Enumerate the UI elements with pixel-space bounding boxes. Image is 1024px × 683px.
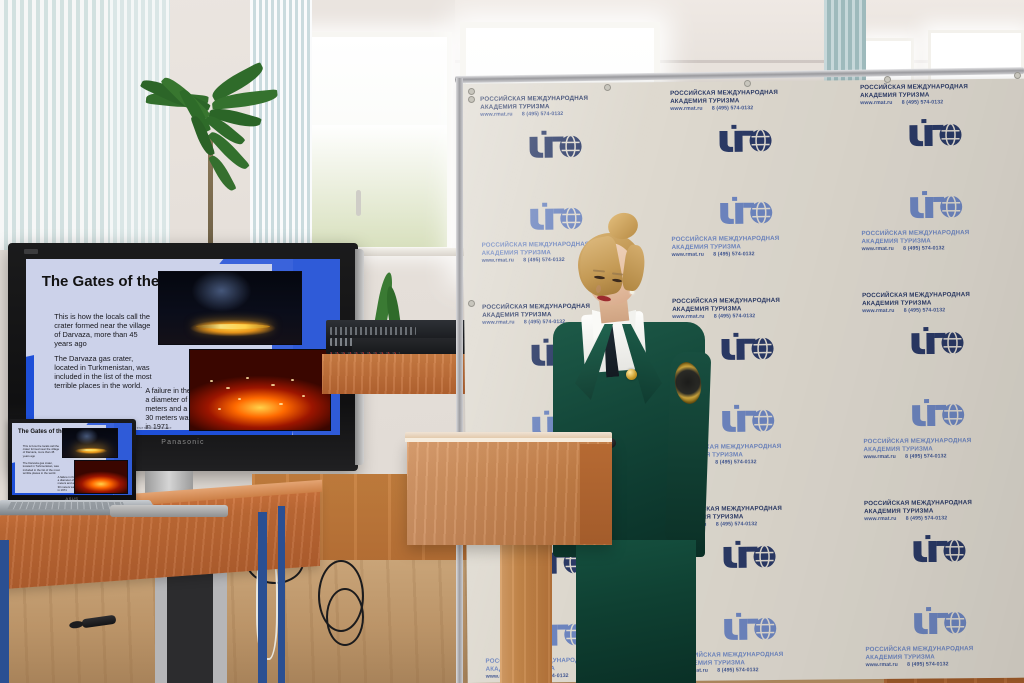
slide-photo-lava xyxy=(189,349,330,432)
banner-logo-tile: РОССИЙСКАЯ МЕЖДУНАРОДНАЯАКАДЕМИЯ ТУРИЗМА… xyxy=(852,494,1024,600)
slide-paragraph-2: The Darvaza gas crater, located in Turkm… xyxy=(54,354,154,390)
academy-logo-icon xyxy=(716,123,772,156)
banner-contact: www.rmat.ru 8 (495) 574-0132 xyxy=(866,661,974,669)
banner-logo-tile: РОССИЙСКАЯ МЕЖДУНАРОДНАЯАКАДЕМИЯ ТУРИЗМА… xyxy=(850,286,1024,392)
presentation-slide: The Gates of the Hell This is how the lo… xyxy=(26,259,340,435)
gold-lapel-pin-icon xyxy=(626,369,637,380)
lectern-column xyxy=(500,541,552,683)
power-cable-loop xyxy=(326,588,364,646)
banner-text-block: РОССИЙСКАЯ МЕЖДУНАРОДНАЯАКАДЕМИЯ ТУРИЗМА… xyxy=(670,89,778,112)
academy-logo-icon xyxy=(908,325,964,358)
academy-logo-icon xyxy=(911,605,967,638)
slide-photo-night xyxy=(158,271,302,345)
window-handle[interactable] xyxy=(356,190,361,216)
slide-paragraph-1: This is how the locals call the crater f… xyxy=(54,312,154,348)
banner-text-block: РОССИЙСКАЯ МЕЖДУНАРОДНАЯАКАДЕМИЯ ТУРИЗМА… xyxy=(672,297,780,320)
banner-grommet xyxy=(468,88,475,95)
photo-scene: The Gates of the Hell This is how the lo… xyxy=(0,0,1024,683)
banner-logo-tile: РОССИЙСКАЯ МЕЖДУНАРОДНАЯАКАДЕМИЯ ТУРИЗМА… xyxy=(848,79,1024,185)
banner-line-1: РОССИЙСКАЯ МЕЖДУНАРОДНАЯ xyxy=(860,83,968,92)
banner-line-1: РОССИЙСКАЯ МЕЖДУНАРОДНАЯ xyxy=(480,95,588,104)
laptop-screen: The Gates of the Hell This is how the lo… xyxy=(12,423,132,495)
banner-contact: www.rmat.ru 8 (495) 574-0132 xyxy=(672,312,780,320)
academy-logo-icon xyxy=(527,201,583,234)
banner-contact: www.rmat.ru 8 (495) 574-0132 xyxy=(670,104,778,112)
banner-logo-tile: РОССИЙСКАЯ МЕЖДУНАРОДНАЯАКАДЕМИЯ ТУРИЗМА… xyxy=(849,182,1024,288)
banner-line-1: РОССИЙСКАЯ МЕЖДУНАРОДНАЯ xyxy=(861,229,969,238)
tv-indicator-icon xyxy=(24,249,38,254)
slide-paragraph-2: The Darvaza gas crater, located in Turkm… xyxy=(23,462,61,476)
banner-frame-left-post xyxy=(456,78,463,683)
window-foliage xyxy=(305,125,447,247)
academy-logo-icon xyxy=(719,403,775,436)
banner-grommet xyxy=(604,84,611,91)
banner-line-1: РОССИЙСКАЯ МЕЖДУНАРОДНАЯ xyxy=(671,235,779,244)
banner-contact: www.rmat.ru 8 (495) 574-0132 xyxy=(482,256,590,264)
banner-text-block: РОССИЙСКАЯ МЕЖДУНАРОДНАЯАКАДЕМИЯ ТУРИЗМА… xyxy=(480,95,588,118)
uniform-skirt xyxy=(576,540,696,683)
banner-grommet xyxy=(468,300,475,307)
academy-logo-icon xyxy=(909,397,965,430)
banner-logo-tile: РОССИЙСКАЯ МЕЖДУНАРОДНАЯАКАДЕМИЯ ТУРИЗМА… xyxy=(851,390,1024,496)
banner-grommet xyxy=(744,80,751,87)
banner-contact: www.rmat.ru 8 (495) 574-0132 xyxy=(862,245,970,253)
banner-text-block: РОССИЙСКАЯ МЕЖДУНАРОДНАЯАКАДЕМИЯ ТУРИЗМА… xyxy=(860,83,968,106)
banner-grommet xyxy=(468,96,475,103)
banner-contact: www.rmat.ru 8 (495) 574-0132 xyxy=(862,307,970,315)
lectern-top-edge xyxy=(405,438,612,442)
table-leg xyxy=(0,540,9,683)
laptop-keyboard[interactable] xyxy=(7,502,125,509)
banner-line-1: РОССИЙСКАЯ МЕЖДУНАРОДНАЯ xyxy=(864,499,972,508)
laptop[interactable]: The Gates of the Hell This is how the lo… xyxy=(8,419,136,502)
banner-grommet xyxy=(884,76,891,83)
table-leg xyxy=(258,512,267,683)
banner-contact: www.rmat.ru 8 (495) 574-0132 xyxy=(860,99,968,107)
banner-contact: www.rmat.ru 8 (495) 574-0132 xyxy=(864,515,972,523)
banner-line-1: РОССИЙСКАЯ МЕЖДУНАРОДНАЯ xyxy=(863,437,971,446)
slide-footer: presentation source xyxy=(133,426,172,430)
lectern-side-panel xyxy=(580,444,612,544)
presentation-slide-laptop: The Gates of the Hell This is how the lo… xyxy=(12,423,132,495)
crater-glow xyxy=(77,449,105,451)
tv-screen: The Gates of the Hell This is how the lo… xyxy=(26,259,340,435)
academy-logo-icon xyxy=(526,129,582,162)
banner-contact: www.rmat.ru 8 (495) 574-0132 xyxy=(672,250,780,258)
tv-stand-column xyxy=(155,560,227,683)
banner-line-1: РОССИЙСКАЯ МЕЖДУНАРОДНАЯ xyxy=(672,297,780,306)
banner-text-block: РОССИЙСКАЯ МЕЖДУНАРОДНАЯАКАДЕМИЯ ТУРИЗМА… xyxy=(861,229,969,252)
banner-contact: www.rmat.ru 8 (495) 574-0132 xyxy=(864,453,972,461)
mixer-knob-row-1[interactable] xyxy=(330,327,416,335)
academy-logo-icon xyxy=(907,189,963,222)
academy-logo-icon xyxy=(717,195,773,228)
banner-grommet xyxy=(1014,72,1021,79)
banner-contact: www.rmat.ru 8 (495) 574-0132 xyxy=(480,110,588,118)
banner-line-1: РОССИЙСКАЯ МЕЖДУНАРОДНАЯ xyxy=(862,291,970,300)
academy-logo-icon xyxy=(721,611,777,644)
table-leg xyxy=(278,506,285,683)
crater-glow xyxy=(196,324,270,329)
banner-text-block: РОССИЙСКАЯ МЕЖДУНАРОДНАЯАКАДЕМИЯ ТУРИЗМА… xyxy=(862,291,970,314)
banner-logo-tile: РОССИЙСКАЯ МЕЖДУНАРОДНАЯАКАДЕМИЯ ТУРИЗМА… xyxy=(853,598,1024,683)
curtain-left[interactable] xyxy=(0,0,120,250)
banner-text-block: РОССИЙСКАЯ МЕЖДУНАРОДНАЯАКАДЕМИЯ ТУРИЗМА… xyxy=(864,499,972,522)
slide-paragraph-1: This is how the locals call the crater f… xyxy=(23,445,61,459)
tv-stand-base xyxy=(110,505,228,517)
banner-text-block: РОССИЙСКАЯ МЕЖДУНАРОДНАЯАКАДЕМИЯ ТУРИЗМА… xyxy=(863,437,971,460)
slide-photo-lava xyxy=(74,460,128,494)
banner-logo-tile: РОССИЙСКАЯ МЕЖДУНАРОДНАЯАКАДЕМИЯ ТУРИЗМА… xyxy=(468,90,659,196)
banner-text-block: РОССИЙСКАЯ МЕЖДУНАРОДНАЯАКАДЕМИЯ ТУРИЗМА… xyxy=(671,235,779,258)
equipment-desk xyxy=(322,354,470,394)
banner-line-1: РОССИЙСКАЯ МЕЖДУНАРОДНАЯ xyxy=(482,241,590,250)
academy-logo-icon xyxy=(906,117,962,150)
academy-logo-icon xyxy=(718,331,774,364)
banner-line-1: РОССИЙСКАЯ МЕЖДУНАРОДНАЯ xyxy=(670,89,778,98)
academy-logo-icon xyxy=(720,539,776,572)
banner-logo-tile: РОССИЙСКАЯ МЕЖДУНАРОДНАЯАКАДЕМИЯ ТУРИЗМА… xyxy=(659,188,850,294)
academy-logo-icon xyxy=(910,533,966,566)
window-middle xyxy=(300,32,452,252)
curtain-left-inner[interactable] xyxy=(110,0,170,245)
banner-text-block: РОССИЙСКАЯ МЕЖДУНАРОДНАЯАКАДЕМИЯ ТУРИЗМА… xyxy=(482,241,590,264)
slide-photo-night xyxy=(62,428,117,458)
banner-line-1: РОССИЙСКАЯ МЕЖДУНАРОДНАЯ xyxy=(865,645,973,654)
banner-text-block: РОССИЙСКАЯ МЕЖДУНАРОДНАЯАКАДЕМИЯ ТУРИЗМА… xyxy=(865,645,973,668)
banner-logo-tile: РОССИЙСКАЯ МЕЖДУНАРОДНАЯАКАДЕМИЯ ТУРИЗМА… xyxy=(658,84,849,190)
banner-line-1: РОССИЙСКАЯ МЕЖДУНАРОДНАЯ xyxy=(482,303,590,312)
